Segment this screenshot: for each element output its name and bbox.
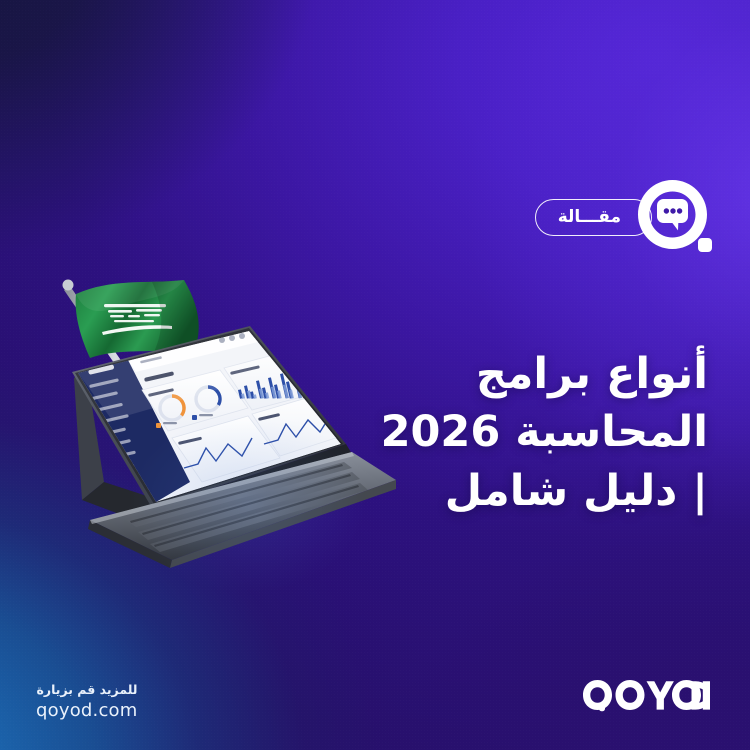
article-badge: مقـــالة <box>535 199 652 236</box>
tablet-device-illustration <box>52 268 412 598</box>
social-card: مقـــالة أنواع برامج المحاسبة 2026 | دلي… <box>0 0 750 750</box>
qoyod-wordmark <box>582 678 710 712</box>
footer-more-label: للمزيد قم بزيارة <box>36 681 138 700</box>
speech-bubble-ring-icon <box>636 178 714 256</box>
article-badge-row: مقـــالة <box>535 178 714 256</box>
footer-visit-block: للمزيد قم بزيارة qoyod.com <box>36 681 138 722</box>
footer-domain: qoyod.com <box>36 700 138 723</box>
